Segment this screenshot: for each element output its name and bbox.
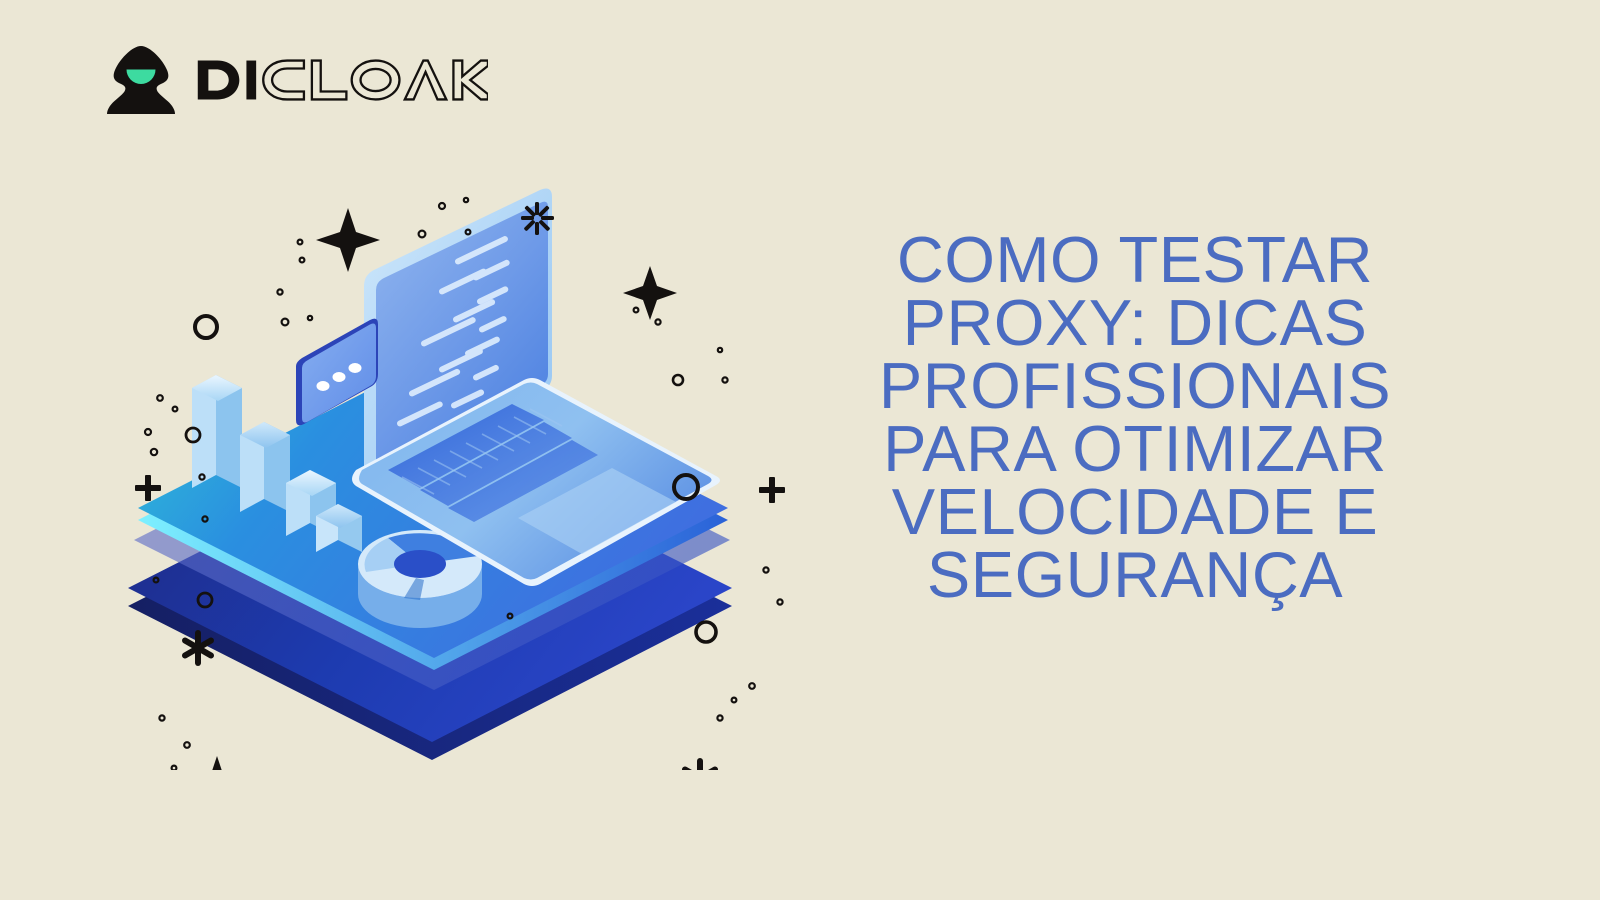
brand-logo[interactable] bbox=[104, 44, 488, 116]
cloak-hooded-figure-icon bbox=[104, 44, 178, 116]
page-title: COMO TESTAR PROXY: DICAS PROFISSIONAIS P… bbox=[830, 228, 1440, 606]
hero-title-block: COMO TESTAR PROXY: DICAS PROFISSIONAIS P… bbox=[830, 228, 1440, 606]
isometric-laptop-analytics-illustration bbox=[120, 170, 800, 770]
poster-canvas: COMO TESTAR PROXY: DICAS PROFISSIONAIS P… bbox=[0, 0, 1600, 900]
brand-wordmark bbox=[196, 57, 488, 103]
